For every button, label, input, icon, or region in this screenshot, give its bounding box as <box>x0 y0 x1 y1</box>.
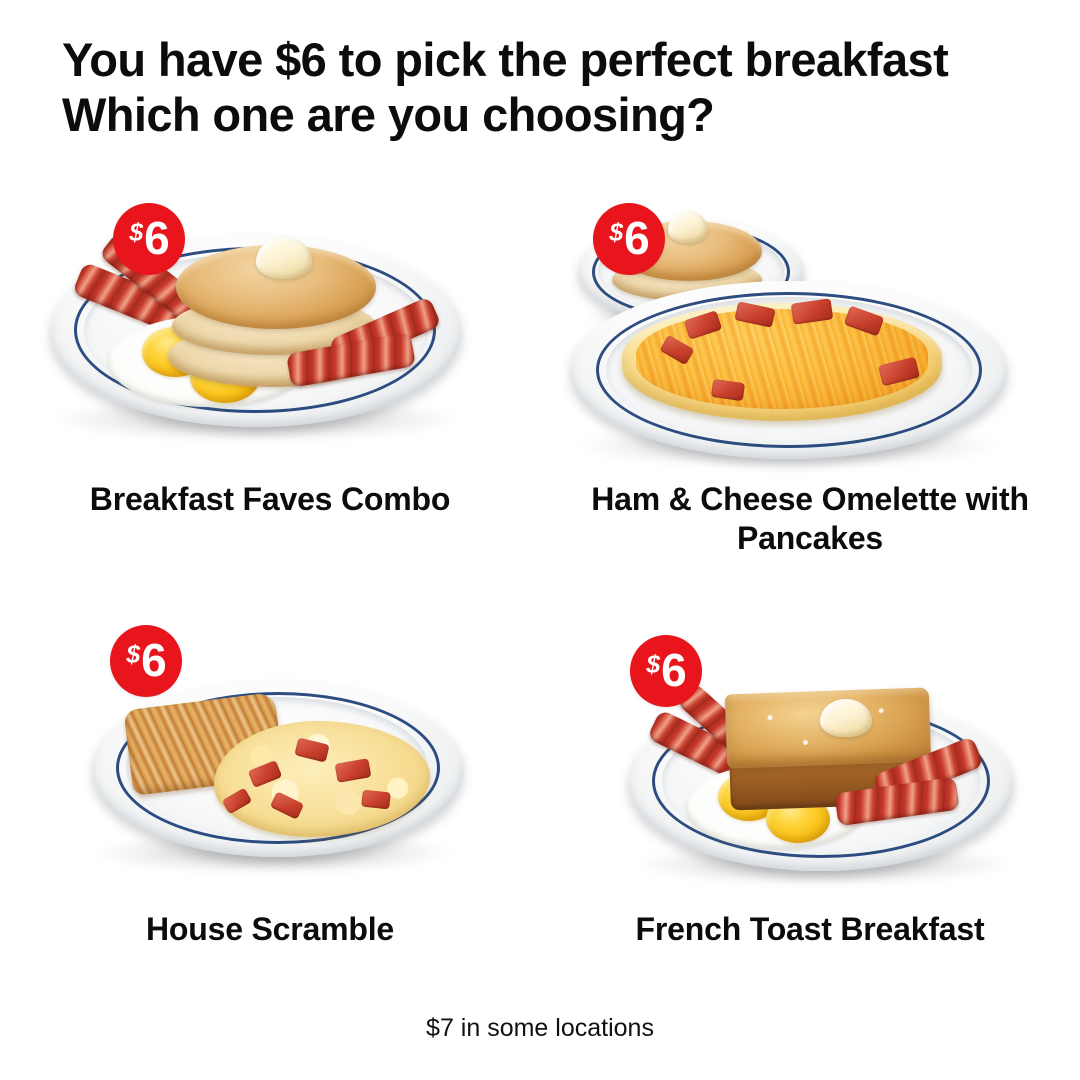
price-number: 6 <box>144 215 169 261</box>
price-number: 6 <box>624 215 649 261</box>
currency-symbol: $ <box>126 643 140 668</box>
menu-item-french-toast-breakfast[interactable]: $6 French Toast Breakfast <box>540 615 1080 915</box>
menu-item-ham-cheese-omelette-with-pancakes[interactable]: $6 Ham & Cheese Omelette with Pancakes <box>540 175 1080 475</box>
menu-item-house-scramble[interactable]: $6 House Scramble <box>0 615 540 915</box>
menu-item-label: French Toast Breakfast <box>550 910 1070 949</box>
currency-symbol: $ <box>609 221 623 246</box>
menu-item-label: Breakfast Faves Combo <box>10 480 530 519</box>
price-badge-amount: $6 <box>609 215 649 261</box>
food-photo-french-toast-breakfast: $6 <box>540 615 1080 915</box>
price-badge-amount: $6 <box>126 637 166 683</box>
butter-pat <box>668 211 708 243</box>
price-badge: $6 <box>110 625 182 697</box>
footnote-disclaimer: $7 in some locations <box>0 1014 1080 1043</box>
price-number: 6 <box>141 637 166 683</box>
food-photo-breakfast-faves-combo: $6 <box>0 175 540 475</box>
currency-symbol: $ <box>129 221 143 246</box>
butter-pat <box>256 237 312 279</box>
headline-line-1: You have $6 to pick the perfect breakfas… <box>62 33 948 86</box>
menu-item-grid: $6 Breakfast Faves Combo <box>0 175 1080 1005</box>
price-badge: $6 <box>593 203 665 275</box>
currency-symbol: $ <box>646 653 660 678</box>
page-title: You have $6 to pick the perfect breakfas… <box>62 32 1022 143</box>
menu-item-label: Ham & Cheese Omelette with Pancakes <box>550 480 1070 558</box>
price-badge-amount: $6 <box>646 647 686 693</box>
price-number: 6 <box>661 647 686 693</box>
price-badge: $6 <box>630 635 702 707</box>
menu-item-label: House Scramble <box>10 910 530 949</box>
promo-poster: You have $6 to pick the perfect breakfas… <box>0 0 1080 1080</box>
menu-item-breakfast-faves-combo[interactable]: $6 Breakfast Faves Combo <box>0 175 540 475</box>
food-photo-house-scramble: $6 <box>0 615 540 915</box>
price-badge-amount: $6 <box>129 215 169 261</box>
food-photo-ham-cheese-omelette: $6 <box>540 175 1080 475</box>
butter-pat <box>820 699 872 737</box>
price-badge: $6 <box>113 203 185 275</box>
headline-line-2: Which one are you choosing? <box>62 87 1022 142</box>
ham-piece <box>361 790 391 810</box>
